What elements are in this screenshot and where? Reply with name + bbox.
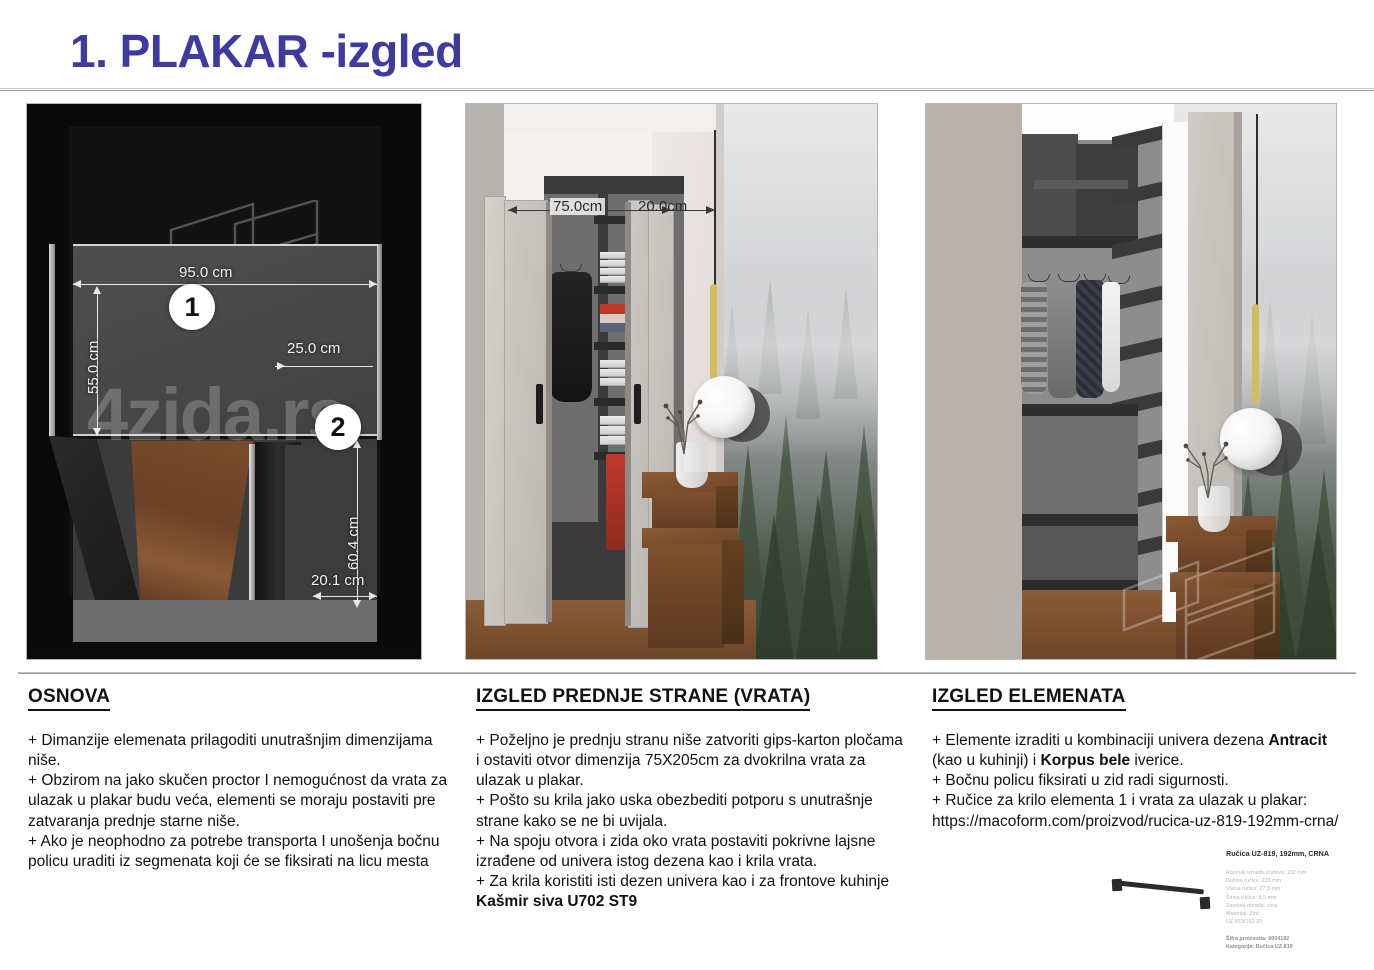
elementi-line-1-mid: (kao u kuhinji) i (932, 752, 1041, 769)
vrata-decor-name: Kašmir siva U702 ST9 (476, 893, 637, 910)
product-category: Kategorija: Ručica UZ-819 (1226, 943, 1344, 951)
osnova-line-2: + Obzirom na jako skučen proctor I nemog… (28, 771, 448, 831)
osnova-line-1: + Dimanzije elemenata prilagoditi unutra… (28, 731, 448, 771)
decor-antracit: Antracit (1268, 732, 1327, 749)
dim-arrow-95-right (369, 280, 377, 288)
spec-line: Širina ručice: 8,5 mm (1226, 894, 1344, 902)
lower-drawer-block (1022, 416, 1138, 524)
vrata-bullets: + Poželjno je prednju stranu niše zatvor… (476, 731, 906, 912)
spec-line: Razmak između šrafova: 192 mm (1226, 869, 1344, 877)
dim-label-604: 60.4 cm (345, 517, 362, 570)
panel-floor-plan: 4zida.rs 95.0 cm 55.0 cm 25.0 cm 60.4 cm… (26, 103, 422, 660)
heading-vrata: IZGLED PREDNJE STRANE (VRATA) (476, 686, 810, 711)
base-cabinet (1022, 526, 1138, 588)
dim-arrow-55-bottom (93, 428, 101, 436)
marker-2: 2 (315, 404, 361, 450)
panel1-right-rail (377, 244, 382, 440)
ceiling (504, 104, 722, 132)
closet-top-panel (544, 176, 684, 194)
marker-1: 1 (169, 284, 215, 330)
door-handle-left[interactable] (536, 384, 543, 424)
dim-label-55: 55.0 cm (85, 341, 102, 394)
dim-arrow-604-bottom (353, 600, 361, 608)
column-osnova: OSNOVA + Dimanzije elemenata prilagoditi… (28, 686, 448, 872)
panel-elements-view (925, 103, 1337, 660)
title-bar: 1. PLAKAR -izgled (0, 0, 1374, 92)
spec-line: Dužina ručice: 225 mm (1226, 877, 1344, 885)
console-lower-front (648, 544, 724, 648)
dim-arrow-95-left (73, 280, 81, 288)
handle-link[interactable]: https://macoform.com/proizvod/rucica-uz-… (932, 812, 1352, 832)
lamp-cord (1256, 114, 1258, 314)
osnova-bullets: + Dimanzije elemenata prilagoditi unutra… (28, 731, 448, 872)
door-handle-right[interactable] (634, 384, 641, 424)
column-vrata: IZGLED PREDNJE STRANE (VRATA) + Poželjno… (476, 686, 906, 912)
console-lower-side (722, 540, 744, 644)
decor-korpus-bele: Korpus bele (1041, 752, 1131, 769)
dim-line-201 (313, 596, 377, 597)
lamp-arm (1252, 304, 1259, 404)
product-code: Šifra proizvoda: 0004192 (1226, 935, 1344, 943)
upper-cabinet-left (1022, 134, 1078, 244)
console-lower-front (1176, 588, 1256, 660)
console-lower-side (1254, 584, 1280, 660)
page-title: 1. PLAKAR -izgled (70, 24, 463, 78)
door-edge-left (546, 202, 552, 622)
dim-label-201: 20.1 cm (311, 572, 364, 589)
product-specs: Razmak između šrafova: 192 mm Dužina ruč… (1226, 869, 1344, 926)
dim-line-95 (73, 284, 377, 285)
dim-line-25 (275, 366, 373, 367)
elementi-line-1: + Elemente izraditi u kombinaciji univer… (932, 731, 1352, 771)
door-edge-right (625, 202, 631, 626)
garment-grey (1048, 282, 1078, 398)
vrata-line-4: + Za krila koristiti isti dezen univera … (476, 872, 906, 912)
dim-label-20: 20.0cm (638, 198, 687, 215)
dim-label-25: 25.0 cm (287, 340, 340, 357)
elementi-line-3: + Ručice za krilo elementa 1 i vrata za … (932, 791, 1352, 811)
garment-white (1102, 282, 1120, 392)
section-divider (18, 672, 1356, 674)
dim-arrow-25 (277, 362, 285, 370)
panel1-left-rail (49, 244, 55, 436)
door-leaf-outer[interactable] (484, 196, 506, 626)
vrata-line-3: + Na spoju otvora i zida oko vrata posta… (476, 832, 906, 872)
vrata-line-1: + Poželjno je prednju stranu niše zatvor… (476, 731, 906, 791)
panel-front-view: 75.0cm 20.0cm (465, 103, 878, 660)
title-divider (0, 88, 1374, 91)
upper-shelf (1034, 180, 1128, 189)
spec-line: Visina ručice: 27,5 mm (1226, 885, 1344, 893)
spec-line: Materijal: Zinč (1226, 910, 1344, 918)
panel1-bottom-dark-band (27, 644, 422, 660)
heading-osnova: OSNOVA (28, 686, 110, 711)
dim-arrow-55-top (93, 286, 101, 294)
osnova-line-3: + Ako je neophodno za potrebe transporta… (28, 832, 448, 872)
elementi-bullets: + Elemente izraditi u kombinaciji univer… (932, 731, 1352, 832)
elementi-line-1-prefix: + Elemente izraditi u kombinaciji univer… (932, 732, 1268, 749)
garment-plaid (1076, 280, 1104, 398)
vrata-line-2: + Pošto su krila jako uska obezbediti po… (476, 791, 906, 831)
dim-label-75: 75.0cm (550, 198, 605, 215)
dried-branches-icon (1172, 422, 1244, 498)
product-title: Ručica UZ-819, 192mm, CRNA (1226, 849, 1344, 858)
spec-line: Završna obrada: crna (1226, 902, 1344, 910)
dim-arrow-20-right (706, 206, 715, 214)
base-plinth (1022, 580, 1138, 590)
dried-branches-icon (650, 382, 720, 454)
mid-divider-shelf (1022, 404, 1138, 416)
lower-shelf (1022, 514, 1138, 526)
vrata-line-4-text: + Za krila koristiti isti dezen univera … (476, 873, 889, 890)
elementi-line-2: + Bočnu policu fiksirati u zid radi sigu… (932, 771, 1352, 791)
dim-arrow-75-left (508, 206, 517, 214)
hanging-coat (550, 272, 592, 402)
handle-product-image (1104, 865, 1222, 923)
garment-striped (1021, 282, 1047, 394)
dim-arrow-201-right (369, 592, 377, 600)
column-elementi: IZGLED ELEMENATA + Elemente izraditi u k… (932, 686, 1352, 832)
dim-arrow-201-left (313, 592, 321, 600)
elementi-line-1-suffix: iverice. (1130, 752, 1183, 769)
panel1-floor-band (73, 600, 377, 642)
product-footer: Šifra proizvoda: 0004192 Kategorija: Ruč… (1226, 935, 1344, 952)
spec-line: UZ-819/192-20 (1226, 918, 1344, 926)
heading-elementi: IZGLED ELEMENATA (932, 686, 1126, 711)
lamp-arm (710, 284, 717, 380)
left-wall (926, 104, 1022, 660)
dim-label-95: 95.0 cm (179, 264, 232, 281)
product-card: Ručica UZ-819, 192mm, CRNA Razmak između… (1098, 843, 1346, 965)
